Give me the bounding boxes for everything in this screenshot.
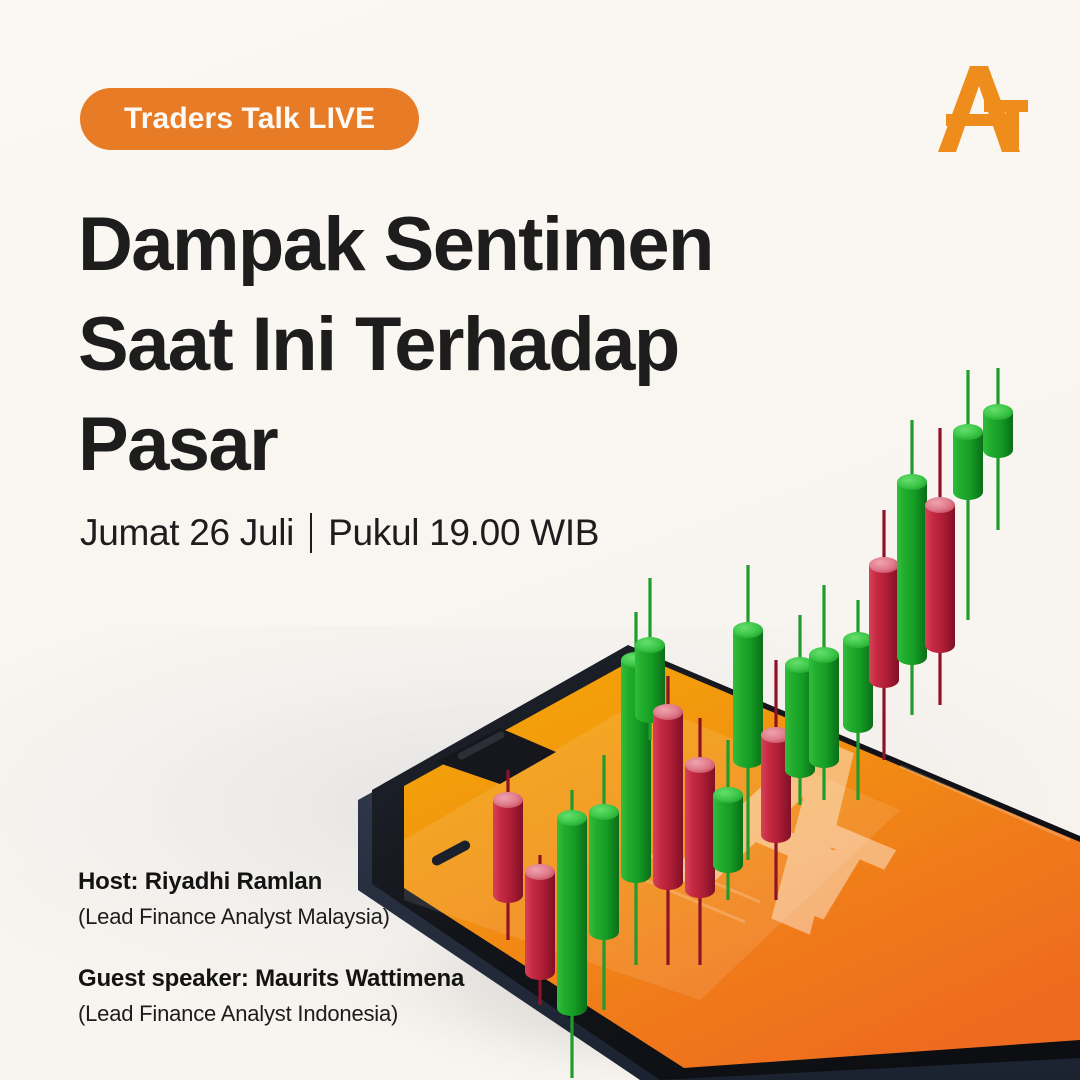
- schedule-date: Jumat 26 Juli: [80, 512, 294, 554]
- poster-canvas: Traders Talk LIVE Dampak Sentimen Saat I…: [0, 0, 1080, 1080]
- host-credit: Host: Riyadhi Ramlan (Lead Finance Analy…: [78, 866, 558, 933]
- host-name: Host: Riyadhi Ramlan: [78, 866, 558, 898]
- speaker-credits: Host: Riyadhi Ramlan (Lead Finance Analy…: [78, 866, 558, 1030]
- traders-talk-live-badge[interactable]: Traders Talk LIVE: [80, 88, 419, 150]
- guest-role: (Lead Finance Analyst Indonesia): [78, 998, 558, 1030]
- headline-line-3: Pasar: [78, 395, 798, 495]
- badge-label: Traders Talk LIVE: [124, 102, 375, 136]
- headline-line-2: Saat Ini Terhadap: [78, 295, 798, 395]
- schedule-separator-icon: [310, 513, 312, 553]
- schedule-line: Jumat 26 Juli Pukul 19.00 WIB: [80, 512, 599, 554]
- headline-line-1: Dampak Sentimen: [78, 195, 798, 295]
- guest-name: Guest speaker: Maurits Wattimena: [78, 963, 558, 995]
- schedule-time: Pukul 19.00 WIB: [328, 512, 599, 554]
- page-title: Dampak Sentimen Saat Ini Terhadap Pasar: [78, 195, 798, 495]
- guest-credit: Guest speaker: Maurits Wattimena (Lead F…: [78, 963, 558, 1030]
- brand-a-logo-icon: [932, 60, 1036, 160]
- host-role: (Lead Finance Analyst Malaysia): [78, 901, 558, 933]
